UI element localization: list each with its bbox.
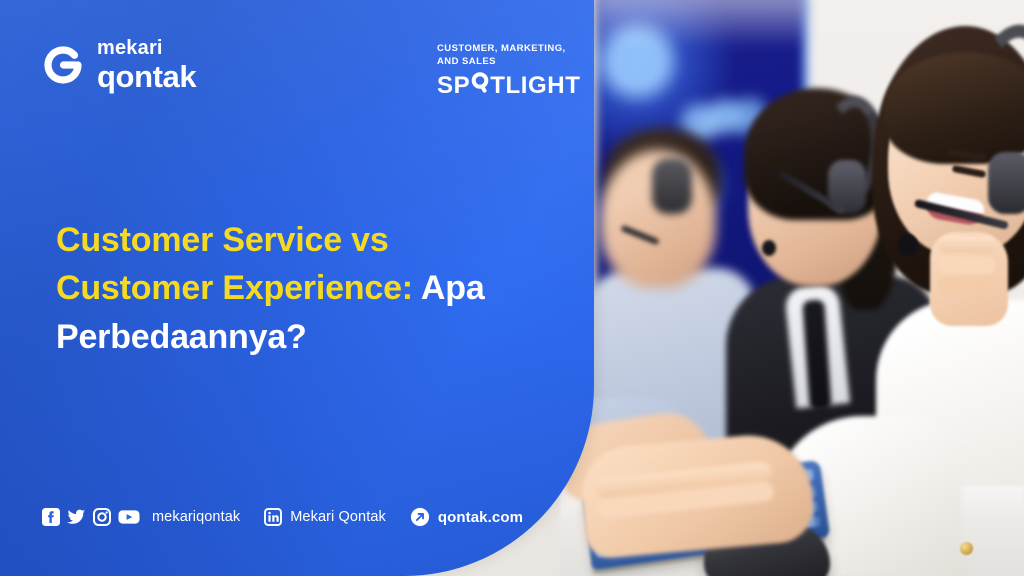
linkedin-group[interactable]: Mekari Qontak [264, 508, 386, 526]
headline-highlight: Customer Service vs Customer Experience: [56, 221, 413, 307]
arrow-up-right-circle-icon[interactable] [410, 507, 430, 527]
logo-text-mekari: mekari [97, 38, 196, 58]
badge-kicker-line-2: AND SALES [437, 56, 580, 69]
website-label[interactable]: qontak.com [438, 509, 523, 526]
badge-kicker-line-1: CUSTOMER, MARKETING, [437, 43, 580, 56]
instagram-icon[interactable] [93, 508, 111, 526]
mekari-qontak-logo[interactable]: mekari qontak [42, 38, 196, 92]
agent-2-microphone-tip [762, 240, 776, 256]
agent-3-earcup [988, 152, 1024, 214]
agent-3-microphone-tip [898, 234, 918, 256]
badge-title-part-1: SP [437, 72, 470, 100]
page-title: Customer Service vs Customer Experience:… [56, 216, 526, 361]
youtube-icon[interactable] [118, 508, 140, 526]
linkedin-icon[interactable] [264, 508, 282, 526]
magnifier-o-icon [471, 70, 490, 101]
badge-title: SP TLIGHT [437, 70, 580, 101]
spotlight-badge: CUSTOMER, MARKETING, AND SALES SP TLIGHT [437, 43, 580, 101]
linkedin-label[interactable]: Mekari Qontak [290, 509, 386, 525]
qontak-circle-logo-icon [42, 44, 84, 86]
social-icon-group [42, 508, 140, 526]
logo-wordmark: mekari qontak [97, 38, 196, 92]
monitor-glare [596, 0, 808, 48]
website-group[interactable]: qontak.com [410, 507, 523, 527]
agent-3-fingers [938, 236, 996, 253]
twitter-icon[interactable] [67, 508, 86, 526]
facebook-icon[interactable] [42, 508, 60, 526]
logo-text-qontak: qontak [97, 61, 196, 92]
agent-1-headset [652, 158, 692, 214]
footer-social-bar: mekariqontak Mekari Qontak qontak.com [42, 507, 523, 527]
social-handle[interactable]: mekariqontak [152, 509, 240, 525]
slide-canvas: mekari qontak CUSTOMER, MARKETING, AND S… [0, 0, 1024, 576]
blouse-button [960, 542, 973, 555]
badge-title-part-2: TLIGHT [490, 72, 580, 100]
